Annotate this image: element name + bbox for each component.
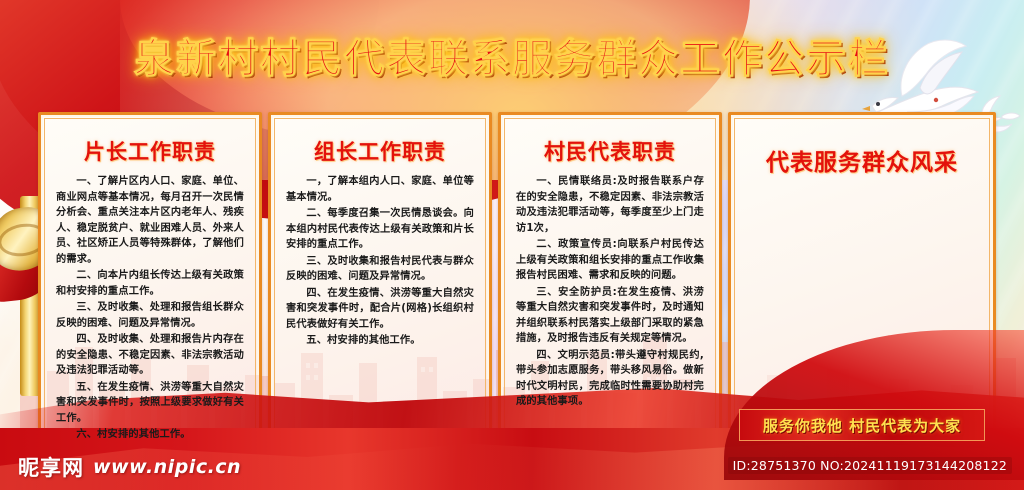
panel-paragraph: 四、在发生疫情、洪涝等重大自然灾害和突发事件时，配合片(网格)长组织村民代表做好…	[286, 286, 474, 333]
panel-paragraph: 三、及时收集和报告村民代表与群众反映的困难、问题及异常情况。	[286, 254, 474, 285]
panel-paragraph: 二、每季度召集一次民情恳谈会。向本组内村民代表传达上级有关政策和片长安排的重点工…	[286, 206, 474, 253]
slogan-banner: 服务你我他 村民代表为大家	[739, 409, 985, 441]
panel-paragraph: 五、村安排的其他工作。	[286, 333, 474, 349]
panel-paragraph: 一，了解本组内人口、家庭、单位等基本情况。	[286, 174, 474, 205]
panel-content: 村民代表职责 一、民情联络员:及时报告联系户存在的安全隐患，不稳定因素、非法宗教…	[504, 118, 716, 448]
panel-title: 组长工作职责	[286, 136, 474, 166]
panel-paragraph: 一、民情联络员:及时报告联系户存在的安全隐患，不稳定因素、非法宗教活动及违法犯罪…	[516, 174, 704, 236]
page-title: 泉新村村民代表联系服务群众工作公示栏	[0, 26, 1024, 84]
watermark-url: www.nipic.cn	[93, 456, 241, 478]
poster-canvas: 泉新村村民代表联系服务群众工作公示栏 片长工作职责 一、了解片区内人口、家庭、单…	[0, 0, 1024, 490]
panel-content: 片长工作职责 一、了解片区内人口、家庭、单位、商业网点等基本情况，每月召开一次民…	[44, 118, 256, 448]
panel-paragraph: 六、村安排的其他工作。	[56, 427, 244, 443]
watermark-logo: 昵享网	[18, 452, 84, 482]
panel-paragraph: 一、了解片区内人口、家庭、单位、商业网点等基本情况，每月召开一次民情分析会、重点…	[56, 174, 244, 267]
panel-paragraph: 三、安全防护员:在发生疫情、洪涝等重大自然灾害和突发事件时，及时通知并组织联系村…	[516, 285, 704, 347]
watermark: 昵享网 www.nipic.cn	[18, 452, 241, 482]
panel-paragraph: 二、政策宣传员:向联系户村民传达上级有关政策和组长安排的重点工作收集报告村民困难…	[516, 237, 704, 284]
panel-cunmin-daibiao-duties: 村民代表职责 一、民情联络员:及时报告联系户存在的安全隐患，不稳定因素、非法宗教…	[498, 112, 722, 454]
panel-paragraph: 四、文明示范员:带头遵守村规民约,带头参加志愿服务，带头移风易俗。做新时代文明村…	[516, 348, 704, 410]
panel-title: 代表服务群众风采	[746, 143, 978, 177]
panel-body: 一、民情联络员:及时报告联系户存在的安全隐患，不稳定因素、非法宗教活动及违法犯罪…	[516, 174, 704, 410]
panel-paragraph: 五、在发生疫情、洪涝等重大自然灾害和突发事件时，按照上级要求做好有关工作。	[56, 380, 244, 427]
panel-title: 片长工作职责	[56, 136, 244, 166]
panel-body: 一，了解本组内人口、家庭、单位等基本情况。 二、每季度召集一次民情恳谈会。向本组…	[286, 174, 474, 349]
id-stamp: ID:28751370 NO:20241119173144208122	[728, 457, 1012, 474]
panel-paragraph: 四、及时收集、处理和报告片内存在的安全隐患、不稳定因素、非法宗教活动及违法犯罪活…	[56, 332, 244, 379]
panel-paragraph: 二、向本片内组长传达上级有关政策和村安排的重点工作。	[56, 268, 244, 299]
panel-body: 一、了解片区内人口、家庭、单位、商业网点等基本情况，每月召开一次民情分析会、重点…	[56, 174, 244, 443]
slogan-text: 服务你我他 村民代表为大家	[763, 415, 961, 436]
panel-paragraph: 三、及时收集、处理和报告组长群众反映的困难、问题及异常情况。	[56, 300, 244, 331]
panel-title: 村民代表职责	[516, 136, 704, 166]
panel-pian-zhang-duties: 片长工作职责 一、了解片区内人口、家庭、单位、商业网点等基本情况，每月召开一次民…	[38, 112, 262, 454]
